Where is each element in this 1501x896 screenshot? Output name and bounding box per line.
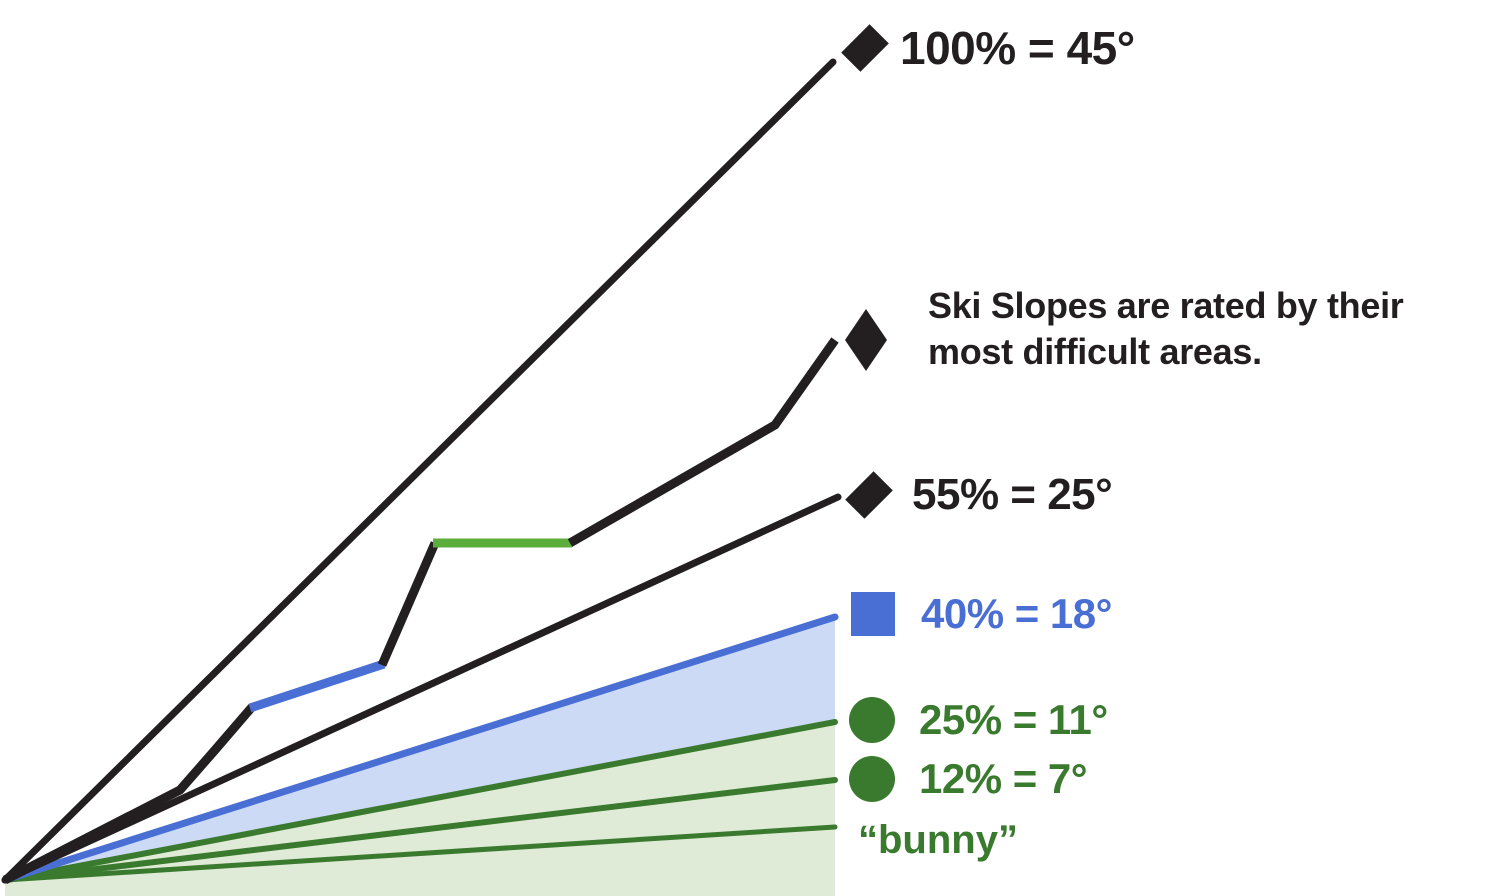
run-segment-black-steep xyxy=(382,543,435,665)
legend-label-55-percent: 55% = 25° xyxy=(912,470,1112,520)
caption-text: Ski Slopes are rated by their most diffi… xyxy=(928,283,1458,375)
legend-label-bunny: “bunny” xyxy=(858,818,1018,863)
diamond-marker-icon xyxy=(842,19,888,77)
legend-item-12-percent[interactable]: 12% = 7° xyxy=(849,755,1087,803)
chart-canvas: 100% = 45° Ski Slopes are rated by their… xyxy=(0,0,1501,896)
legend-label-12-percent: 12% = 7° xyxy=(919,755,1087,803)
run-endpoint-markers xyxy=(845,309,887,371)
legend-item-25-percent[interactable]: 25% = 11° xyxy=(849,696,1108,744)
circle-marker-icon xyxy=(849,697,895,743)
slope-diagram xyxy=(0,0,1501,896)
run-segment-blue-bench xyxy=(250,664,384,708)
legend-item-40-percent[interactable]: 40% = 18° xyxy=(851,590,1112,638)
legend-label-40-percent: 40% = 18° xyxy=(921,590,1112,638)
square-marker-icon xyxy=(851,592,895,636)
legend-label-25-percent: 25% = 11° xyxy=(919,696,1108,744)
legend-item-100-percent[interactable]: 100% = 45° xyxy=(842,19,1135,77)
legend-label-100-percent: 100% = 45° xyxy=(900,21,1135,75)
diamond-marker-irregular-run xyxy=(845,309,887,371)
circle-marker-icon xyxy=(849,756,895,802)
run-segment-black-upper xyxy=(570,340,835,543)
legend-item-55-percent[interactable]: 55% = 25° xyxy=(846,466,1112,524)
diamond-marker-icon xyxy=(846,466,892,524)
